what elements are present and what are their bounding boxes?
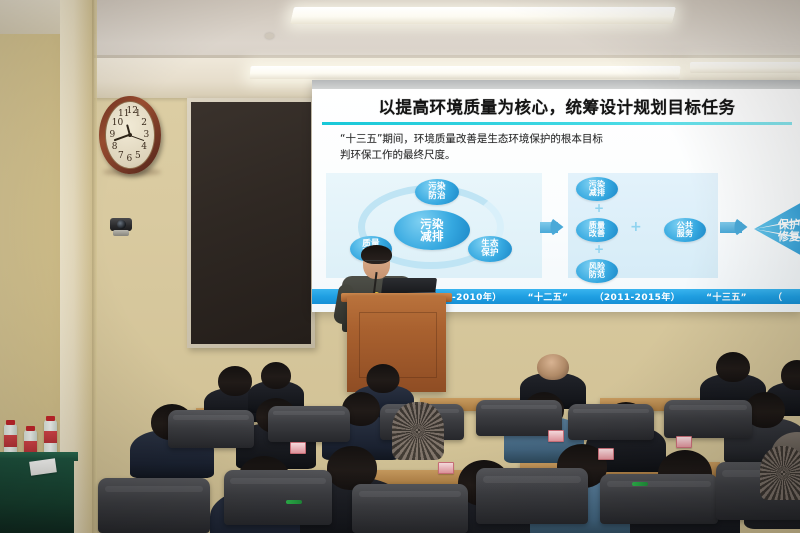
- chair[interactable]: [476, 468, 588, 524]
- audience-area: [0, 0, 800, 533]
- chair[interactable]: [568, 404, 654, 440]
- name-card: [676, 436, 692, 448]
- audience-head: [716, 352, 750, 382]
- fur-collar-coat: [760, 446, 800, 500]
- lanyard: [286, 500, 302, 504]
- audience-head: [261, 362, 291, 389]
- lanyard: [632, 482, 648, 486]
- name-card: [548, 430, 564, 442]
- bottle-cap: [6, 420, 15, 425]
- audience-head: [367, 364, 400, 393]
- bottle-cap: [46, 416, 55, 421]
- chair[interactable]: [268, 406, 350, 442]
- bottle-label: [44, 431, 57, 443]
- name-card: [598, 448, 614, 460]
- audience-head: [218, 366, 252, 396]
- conference-room-photo: 121234567891011 以提高环境质量为核心，统筹设计规划目标任务 “十…: [0, 0, 800, 533]
- bottle-cap: [26, 426, 35, 431]
- chair[interactable]: [224, 470, 332, 525]
- fur-collar-coat: [392, 402, 444, 460]
- chair[interactable]: [352, 484, 468, 533]
- chair[interactable]: [664, 400, 752, 438]
- chair[interactable]: [98, 478, 210, 533]
- audience-head: [537, 354, 569, 380]
- chair[interactable]: [600, 474, 718, 524]
- chair[interactable]: [168, 410, 254, 448]
- name-card: [438, 462, 454, 474]
- name-card: [290, 442, 306, 454]
- water-bottle: [44, 420, 57, 456]
- bottle-label: [4, 435, 17, 447]
